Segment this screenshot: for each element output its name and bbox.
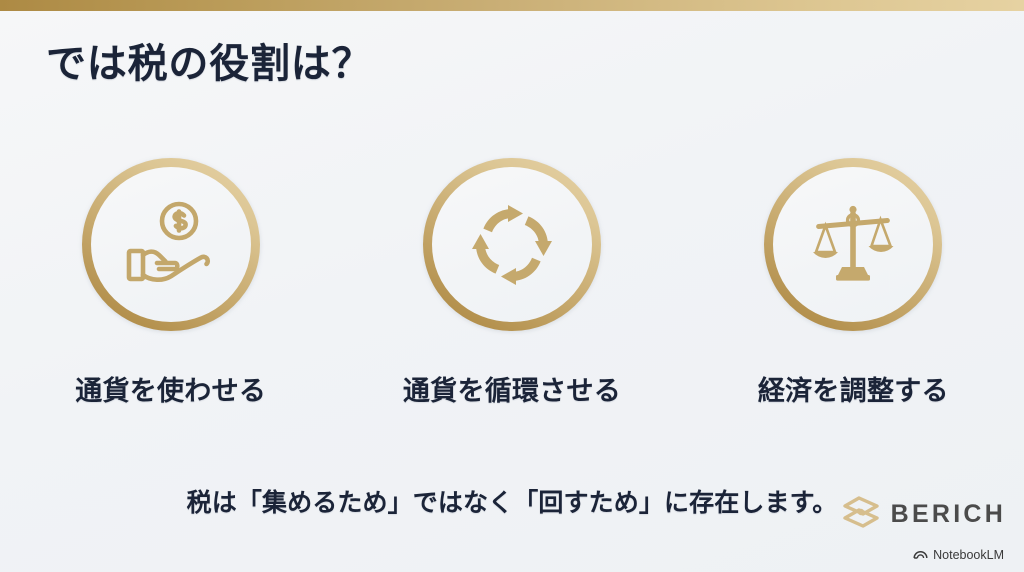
brand-name: BERICH: [891, 500, 1006, 529]
notebooklm-watermark: NotebookLM: [913, 547, 1004, 563]
slide-canvas: では税の役割は？: [0, 0, 1024, 572]
column-adjust-economy: 経済を調整する: [683, 158, 1024, 408]
column-caption: 通貨を使わせる: [75, 369, 266, 408]
balance-scales-icon: [799, 191, 907, 299]
icon-ring: [764, 158, 942, 331]
watermark-label: NotebookLM: [933, 548, 1004, 562]
column-circulate-currency: 通貨を循環させる: [341, 158, 682, 408]
icon-ring: [82, 158, 260, 331]
icon-ring: [423, 158, 601, 331]
notebooklm-icon: [913, 547, 928, 563]
column-caption: 通貨を循環させる: [403, 369, 621, 408]
page-title: では税の役割は？: [46, 40, 372, 88]
berich-layers-icon: [841, 495, 881, 534]
brand-logo: BERICH: [841, 495, 1006, 534]
top-accent-bar: [0, 0, 1024, 11]
cycle-arrows-icon: [458, 191, 566, 299]
column-caption: 経済を調整する: [758, 369, 949, 408]
column-use-currency: 通貨を使わせる: [0, 158, 341, 408]
hand-holding-dollar-icon: [117, 191, 225, 299]
icon-columns: 通貨を使わせる: [0, 158, 1024, 408]
